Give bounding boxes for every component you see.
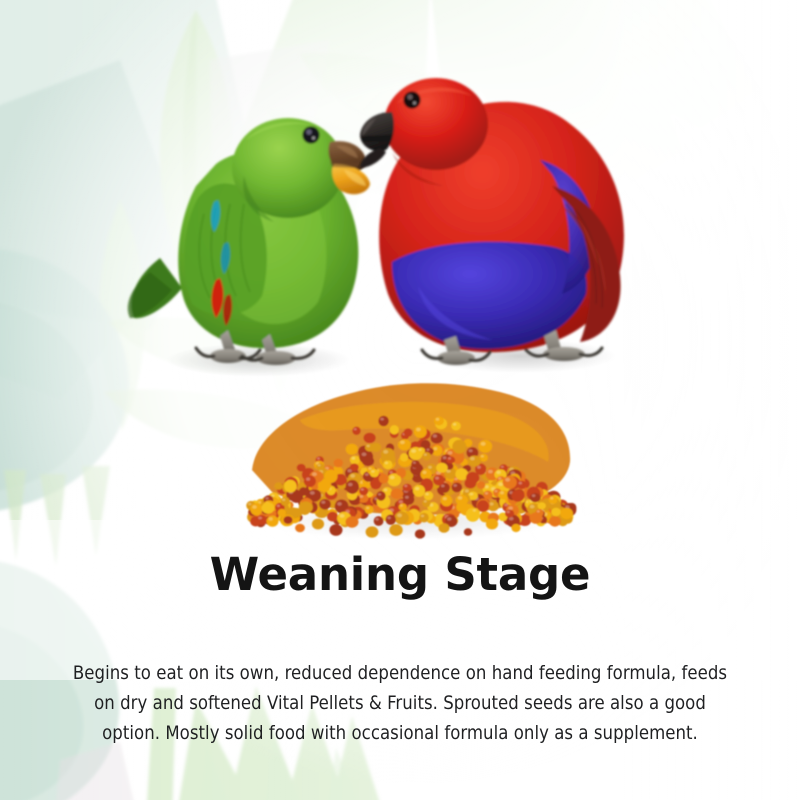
description-line-2: on dry and softened Vital Pellets & Frui… (42, 689, 758, 719)
stage-description: Begins to eat on its own, reduced depend… (0, 659, 800, 748)
description-line-3: option. Mostly solid food with occasiona… (42, 719, 758, 749)
leaf-cluster-top-left (0, 0, 760, 430)
weaning-stage-card: Weaning Stage Begins to eat on its own, … (0, 0, 800, 800)
stage-text-block: Weaning Stage Begins to eat on its own, … (0, 548, 800, 748)
green-eclectus-parrot (128, 118, 370, 365)
description-line-1: Begins to eat on its own, reduced depend… (42, 659, 758, 689)
leaf-cluster-top-center (268, 53, 488, 192)
vital-pellets-pile (246, 383, 576, 538)
leaf-cluster-left-middle (0, 248, 330, 566)
page-title: Weaning Stage (0, 548, 800, 603)
red-eclectus-parrot (360, 78, 624, 365)
title-spacer (0, 603, 800, 659)
